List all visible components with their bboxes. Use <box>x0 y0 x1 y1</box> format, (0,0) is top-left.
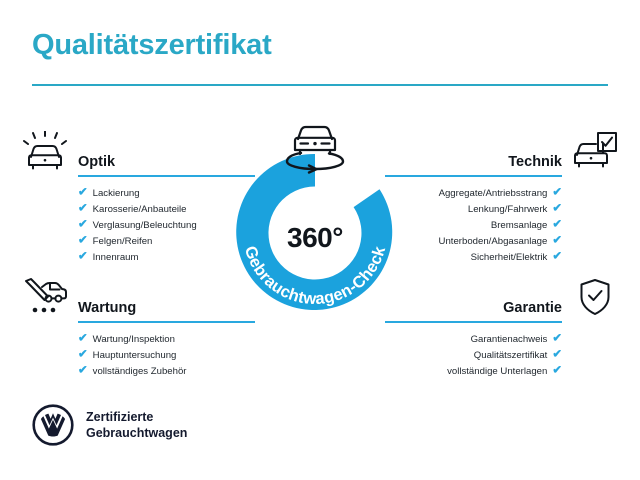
list-item-label: vollständiges Zubehör <box>93 367 187 377</box>
check-icon: ✔ <box>78 252 88 264</box>
list-item-label: Aggregate/Antriebsstrang <box>439 189 548 199</box>
list-item-label: Bremsanlage <box>491 221 548 231</box>
check-icon: ✔ <box>552 366 562 378</box>
list-item: Qualitätszertifikat ✔ <box>385 348 562 364</box>
header: Qualitätszertifikat <box>32 30 608 86</box>
list-item: Lenkung/Fahrwerk ✔ <box>385 202 562 218</box>
section-wartung-title: Wartung <box>78 301 136 316</box>
check-icon: ✔ <box>552 236 562 248</box>
list-item-label: vollständige Unterlagen <box>447 367 547 377</box>
car-wrench-icon <box>22 277 68 317</box>
section-garantie: Garantie Garantienachweis ✔ Qualitätszer… <box>385 276 618 380</box>
check-icon: ✔ <box>78 366 88 378</box>
section-garantie-divider <box>385 321 562 323</box>
left-column: Optik ✔ Lackierung ✔ Karosserie/Anbautei… <box>22 130 255 380</box>
check-icon: ✔ <box>552 334 562 346</box>
section-optik-header: Optik <box>22 130 255 177</box>
check-icon: ✔ <box>552 220 562 232</box>
section-technik-list: Aggregate/Antriebsstrang ✔ Lenkung/Fahrw… <box>385 177 618 266</box>
check-icon: ✔ <box>78 188 88 200</box>
list-item-label: Garantienachweis <box>471 335 548 345</box>
section-optik-title: Optik <box>78 155 115 170</box>
list-item-label: Lackierung <box>93 189 140 199</box>
section-technik-divider <box>385 175 562 177</box>
list-item-label: Sicherheit/Elektrik <box>471 253 548 263</box>
header-divider <box>32 84 608 86</box>
car-checkbox-icon <box>572 131 618 171</box>
list-item-label: Felgen/Reifen <box>93 237 153 247</box>
check-icon: ✔ <box>78 334 88 346</box>
list-item: ✔ vollständiges Zubehör <box>78 364 255 380</box>
section-wartung: Wartung ✔ Wartung/Inspektion ✔ Hauptunte… <box>22 276 255 380</box>
section-wartung-list: ✔ Wartung/Inspektion ✔ Hauptuntersuchung… <box>22 323 255 380</box>
list-item: Sicherheit/Elektrik ✔ <box>385 250 562 266</box>
section-garantie-title: Garantie <box>503 301 562 316</box>
list-item-label: Qualitätszertifikat <box>474 351 548 361</box>
list-item-label: Lenkung/Fahrwerk <box>468 205 547 215</box>
list-item: ✔ Hauptuntersuchung <box>78 348 255 364</box>
section-technik-title: Technik <box>508 155 562 170</box>
check-icon: ✔ <box>552 188 562 200</box>
list-item: Bremsanlage ✔ <box>385 218 562 234</box>
list-item-label: Unterboden/Abgasanlage <box>439 237 548 247</box>
check-icon: ✔ <box>78 350 88 362</box>
vw-brand-lockup: Zertifizierte Gebrauchtwagen <box>32 404 187 446</box>
section-optik: Optik ✔ Lackierung ✔ Karosserie/Anbautei… <box>22 130 255 266</box>
shield-check-icon <box>572 277 618 317</box>
badge-degrees: 360° <box>229 222 401 254</box>
check-icon: ✔ <box>552 252 562 264</box>
list-item-label: Innenraum <box>93 253 139 263</box>
list-item-label: Hauptuntersuchung <box>93 351 177 361</box>
check-icon: ✔ <box>78 204 88 216</box>
car-shine-icon <box>22 131 68 171</box>
section-wartung-header: Wartung <box>22 276 255 323</box>
list-item: Aggregate/Antriebsstrang ✔ <box>385 186 562 202</box>
check-icon: ✔ <box>552 204 562 216</box>
list-item: vollständige Unterlagen ✔ <box>385 364 562 380</box>
car-rotation-icon <box>276 118 354 174</box>
gebrauchtwagen-check-badge: Gebrauchtwagen-Check 360° <box>229 118 411 318</box>
list-item: Garantienachweis ✔ <box>385 332 562 348</box>
list-item: ✔ Wartung/Inspektion <box>78 332 255 348</box>
check-icon: ✔ <box>78 220 88 232</box>
right-column: Technik Aggregate/Antriebsstrang ✔ Lenku… <box>385 130 618 380</box>
check-icon: ✔ <box>78 236 88 248</box>
section-garantie-list: Garantienachweis ✔ Qualitätszertifikat ✔… <box>385 323 618 380</box>
section-technik: Technik Aggregate/Antriebsstrang ✔ Lenku… <box>385 130 618 266</box>
page-title: Qualitätszertifikat <box>32 30 608 62</box>
section-wartung-divider <box>78 321 255 323</box>
list-item-label: Karosserie/Anbauteile <box>93 205 187 215</box>
vw-logo <box>32 404 74 446</box>
section-optik-list: ✔ Lackierung ✔ Karosserie/Anbauteile ✔ V… <box>22 177 255 266</box>
quality-certificate-page: Qualitätszertifikat Optik <box>0 0 640 480</box>
section-garantie-header: Garantie <box>385 276 618 323</box>
brand-lockup-text: Zertifizierte Gebrauchtwagen <box>86 409 187 441</box>
list-item-label: Wartung/Inspektion <box>93 335 175 345</box>
section-technik-header: Technik <box>385 130 618 177</box>
list-item: Unterboden/Abgasanlage ✔ <box>385 234 562 250</box>
check-icon: ✔ <box>552 350 562 362</box>
list-item-label: Verglasung/Beleuchtung <box>93 221 197 231</box>
